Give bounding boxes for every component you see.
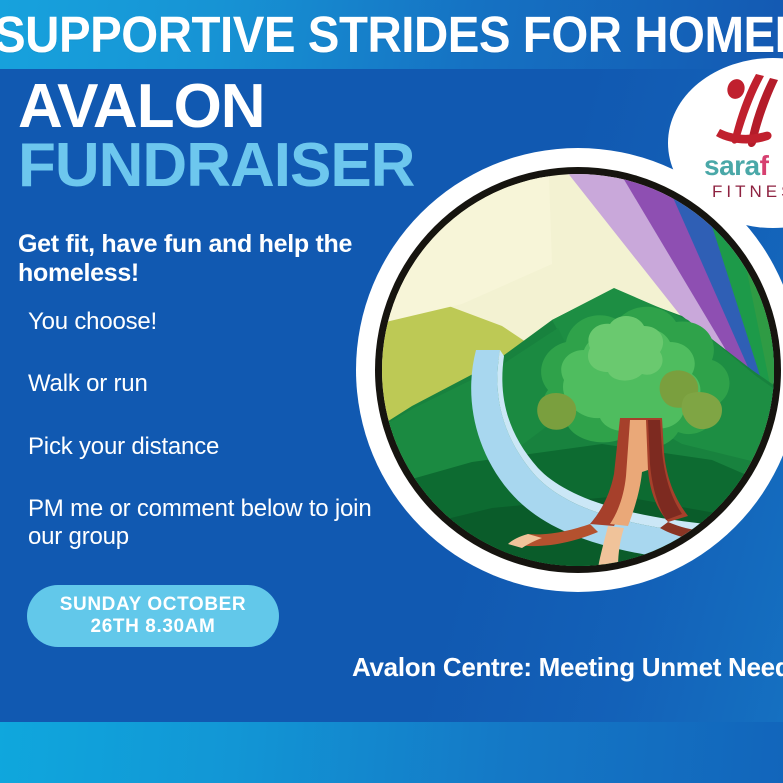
logo-word-pink: f — [760, 150, 769, 181]
bottom-gradient-band — [0, 722, 783, 783]
page-title: AVALON — [18, 78, 414, 135]
running-figure-icon — [710, 72, 783, 150]
tagline: Get fit, have fun and help the homeless! — [18, 230, 378, 288]
logo-wordmark: saraf — [704, 150, 768, 182]
list-item: PM me or comment below to join our group — [28, 495, 378, 552]
logo-word-teal: sara — [704, 150, 760, 181]
banner-bar: SUPPORTIVE STRIDES FOR HOMELESSNESS — [0, 0, 783, 69]
sponsor-logo: saraf FITNESS — [668, 58, 783, 228]
promotional-poster: SUPPORTIVE STRIDES FOR HOMELESSNESS AVAL… — [0, 0, 783, 783]
list-item: You choose! — [28, 308, 378, 336]
event-date-text: SUNDAY OCTOBER 26TH 8.30AM — [60, 594, 246, 639]
banner-title: SUPPORTIVE STRIDES FOR HOMELESSNESS — [0, 6, 783, 64]
event-date-line2: 26TH 8.30AM — [91, 616, 216, 637]
headline-group: AVALON FUNDRAISER — [18, 78, 414, 194]
list-item: Walk or run — [28, 370, 378, 398]
event-date-badge: SUNDAY OCTOBER 26TH 8.30AM — [27, 585, 279, 647]
page-subtitle: FUNDRAISER — [18, 137, 414, 194]
organization-caption: Avalon Centre: Meeting Unmet Needs — [352, 652, 783, 683]
list-item: Pick your distance — [28, 433, 378, 461]
event-date-line1: SUNDAY OCTOBER — [60, 594, 246, 615]
logo-subword: FITNESS — [712, 182, 783, 202]
details-list: You choose! Walk or run Pick your distan… — [28, 308, 378, 552]
